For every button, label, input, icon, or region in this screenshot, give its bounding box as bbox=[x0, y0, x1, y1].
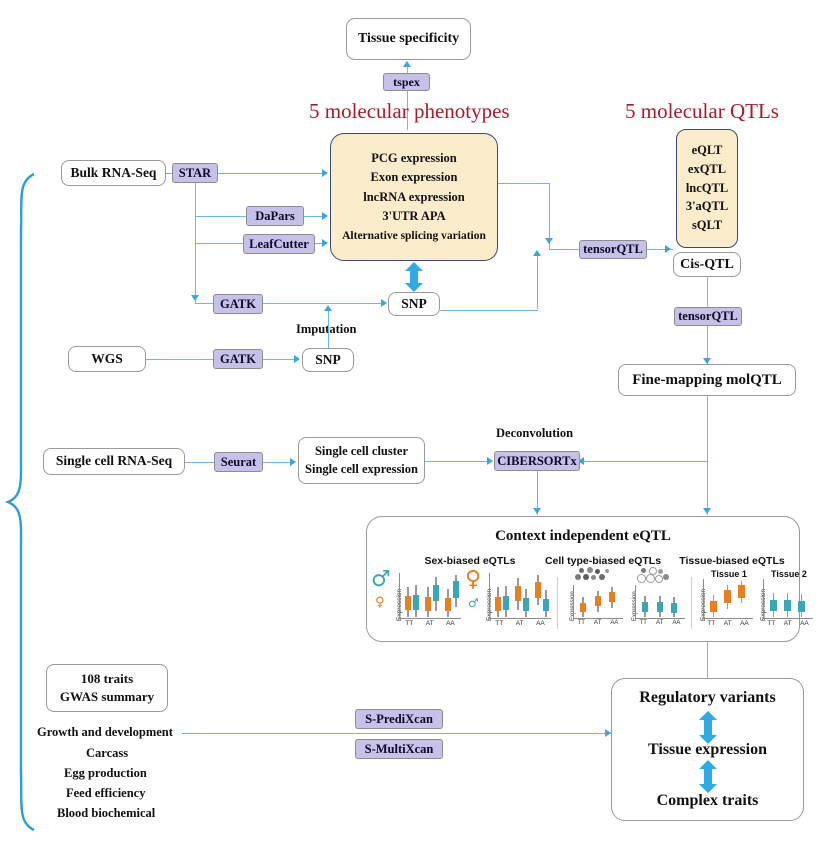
chart-tissue-2 bbox=[763, 579, 813, 619]
tool-tspex-label: tspex bbox=[393, 75, 420, 90]
line-snp-up-junction bbox=[537, 252, 538, 309]
single-cell-cluster-box[interactable]: Single cell cluster Single cell expressi… bbox=[298, 437, 425, 484]
tool-seurat-label: Seurat bbox=[221, 455, 256, 470]
tool-gatk-wgs[interactable]: GATK bbox=[213, 349, 263, 369]
phenotypes-section-title: 5 molecular phenotypes bbox=[309, 99, 510, 124]
trait-egg-text: Egg production bbox=[64, 766, 147, 780]
tissue2-title: Tissue 2 bbox=[771, 569, 807, 579]
group-title-sex: Sex-biased eQTLs bbox=[405, 555, 535, 567]
phenotype-item-3: 3'UTR APA bbox=[382, 209, 445, 225]
group-title-celltype: Cell type-biased eQTLs bbox=[533, 555, 673, 567]
tool-leafcutter[interactable]: LeafCutter bbox=[243, 234, 315, 254]
arrowhead-snp-rna bbox=[381, 299, 387, 307]
group-title-celltype-text: Cell type-biased eQTLs bbox=[545, 555, 661, 567]
male-symbol-large: ♂ bbox=[371, 569, 391, 591]
tool-gatk-rna-label: GATK bbox=[220, 297, 256, 312]
trait-feed-text: Feed efficiency bbox=[66, 786, 145, 800]
tool-cibersortx[interactable]: CIBERSORTx bbox=[494, 451, 580, 471]
xticks-tissue-2: TT AT AA bbox=[763, 620, 813, 627]
outcome-complex-traits: Complex traits bbox=[657, 791, 759, 811]
tool-gatk-rna[interactable]: GATK bbox=[213, 294, 263, 314]
qtl-item-1: exQTL bbox=[688, 162, 726, 178]
outcomes-box[interactable]: Regulatory variants Tissue expression Co… bbox=[611, 678, 804, 821]
xticks-sex-male: TT AT AA bbox=[399, 620, 461, 627]
group-title-sex-text: Sex-biased eQTLs bbox=[424, 555, 515, 567]
line-scbox-to-cibersortx bbox=[425, 461, 490, 462]
arrowhead-cibersortx bbox=[487, 457, 493, 465]
molecular-qtls-box[interactable]: eQLT exQTL lncQTL 3'aQTL sQLT bbox=[676, 129, 738, 248]
chart-sex-female bbox=[489, 573, 551, 619]
xtick-at: AT bbox=[724, 620, 732, 627]
phenotypes-title-text: 5 molecular phenotypes bbox=[309, 99, 510, 123]
tissue1-title: Tissue 1 bbox=[711, 569, 747, 579]
tool-tensorqtl-finemap-label: tensorQTL bbox=[678, 309, 738, 324]
snp-wgs-node[interactable]: SNP bbox=[302, 348, 354, 372]
tool-s-multixcan[interactable]: S-MultiXcan bbox=[355, 739, 443, 759]
imputation-label: Imputation bbox=[296, 322, 356, 337]
line-star-to-dapars bbox=[195, 216, 246, 217]
chart-sex-male bbox=[399, 573, 461, 619]
xtick-aa: AA bbox=[740, 620, 749, 627]
sc-box-line1: Single cell cluster bbox=[315, 444, 408, 460]
tissue2-title-text: Tissue 2 bbox=[771, 569, 807, 579]
line-finemap-to-cibersortx bbox=[582, 461, 708, 462]
line-finemap-down2 bbox=[707, 461, 708, 515]
fine-mapping-label: Fine-mapping molQTL bbox=[632, 371, 782, 390]
xticks-celltype-a: TT AT AA bbox=[573, 620, 623, 626]
phenotype-item-1: Exon expression bbox=[371, 170, 458, 186]
trait-carcass-text: Carcass bbox=[86, 746, 128, 760]
line-wgs-to-gatk bbox=[146, 359, 213, 360]
xtick-tt: TT bbox=[578, 620, 585, 626]
molecular-phenotypes-box[interactable]: PCG expression Exon expression lncRNA ex… bbox=[330, 133, 498, 261]
tool-tensorqtl-cis[interactable]: tensorQTL bbox=[579, 240, 647, 259]
xtick-at: AT bbox=[784, 620, 792, 627]
qtls-title-text: 5 molecular QTLs bbox=[625, 99, 779, 123]
imputation-text: Imputation bbox=[296, 322, 356, 336]
trait-blood-text: Blood biochemical bbox=[57, 806, 155, 820]
line-star-to-leafcutter bbox=[195, 243, 243, 244]
group-title-tissue-text: Tissue-biased eQTLs bbox=[679, 555, 784, 567]
trait-growth: Growth and development bbox=[37, 725, 173, 740]
wgs-node[interactable]: WGS bbox=[68, 346, 146, 372]
female-symbol-large: ♀ bbox=[465, 569, 481, 591]
xtick-tt: TT bbox=[495, 620, 503, 627]
line-pheno-right bbox=[498, 183, 550, 184]
line-gwas-to-outcomes bbox=[182, 733, 611, 734]
tissue-specificity-node[interactable]: Tissue specificity bbox=[346, 18, 471, 60]
line-seurat-to-scbox bbox=[263, 462, 293, 463]
tool-cibersortx-label: CIBERSORTx bbox=[497, 454, 576, 469]
xtick-tt: TT bbox=[767, 620, 775, 627]
tool-star[interactable]: STAR bbox=[172, 163, 218, 183]
tissue1-title-text: Tissue 1 bbox=[711, 569, 747, 579]
qtl-item-3: 3'aQTL bbox=[686, 199, 728, 215]
arrowhead-star-spine bbox=[191, 295, 199, 301]
phenotype-item-4: Alternative splicing variation bbox=[342, 229, 486, 243]
xtick-tt: TT bbox=[405, 620, 413, 627]
tool-star-label: STAR bbox=[179, 166, 211, 181]
xtick-at: AT bbox=[516, 620, 524, 627]
xtick-tt: TT bbox=[640, 620, 647, 626]
trait-carcass: Carcass bbox=[86, 746, 128, 761]
xtick-aa: AA bbox=[610, 620, 618, 626]
cis-qtl-node[interactable]: Cis-QTL bbox=[673, 252, 741, 277]
tissue-specificity-label: Tissue specificity bbox=[358, 30, 459, 48]
xtick-aa: AA bbox=[672, 620, 680, 626]
female-symbol-small: ♀ bbox=[375, 596, 385, 609]
qtls-section-title: 5 molecular QTLs bbox=[625, 99, 779, 124]
arrowhead-snp-wgs bbox=[294, 355, 300, 363]
arrowhead-tissuespec bbox=[403, 61, 411, 67]
xtick-aa: AA bbox=[446, 620, 455, 627]
arrowhead-pheno-3 bbox=[322, 239, 328, 247]
tool-seurat[interactable]: Seurat bbox=[214, 452, 263, 472]
bulk-rnaseq-node[interactable]: Bulk RNA-Seq bbox=[61, 160, 166, 186]
xtick-at: AT bbox=[594, 620, 601, 626]
cis-qtl-label: Cis-QTL bbox=[680, 256, 734, 274]
gwas-summary-box[interactable]: 108 traits GWAS summary bbox=[46, 664, 168, 712]
xticks-tissue-1: TT AT AA bbox=[703, 620, 753, 627]
single-cell-rnaseq-node[interactable]: Single cell RNA-Seq bbox=[43, 448, 185, 475]
gwas-box-line2: GWAS summary bbox=[60, 689, 154, 705]
arrowhead-pheno-2 bbox=[322, 212, 328, 220]
male-symbol-small-glyph: ♂ bbox=[468, 596, 479, 610]
tool-leafcutter-label: LeafCutter bbox=[249, 237, 309, 252]
tool-s-multixcan-label: S-MultiXcan bbox=[365, 742, 434, 757]
xtick-at: AT bbox=[426, 620, 434, 627]
female-symbol-small-glyph: ♀ bbox=[375, 595, 385, 610]
line-sc-to-seurat bbox=[185, 462, 214, 463]
trait-growth-text: Growth and development bbox=[37, 725, 173, 739]
context-independent-eqtl-panel[interactable]: Context independent eQTL Sex-biased eQTL… bbox=[366, 516, 800, 642]
sc-box-line2: Single cell expression bbox=[305, 462, 418, 478]
snp-wgs-label: SNP bbox=[315, 352, 341, 369]
context-panel-title: Context independent eQTL bbox=[367, 528, 799, 545]
tool-dapars-label: DaPars bbox=[255, 209, 295, 224]
arrowhead-snp-up bbox=[533, 250, 541, 256]
tool-tensorqtl-finemap[interactable]: tensorQTL bbox=[674, 307, 742, 326]
double-arrow-variants-expression bbox=[699, 711, 717, 744]
arrowhead-pheno-1 bbox=[322, 169, 328, 177]
double-arrow-pheno-snp bbox=[405, 262, 423, 292]
bulk-rnaseq-label: Bulk RNA-Seq bbox=[71, 165, 157, 182]
chart-tissue-1 bbox=[703, 579, 753, 619]
tool-s-predixcan[interactable]: S-PrediXcan bbox=[355, 709, 443, 729]
diagram-canvas: Tissue specificity tspex 5 molecular phe… bbox=[0, 0, 829, 842]
trait-feed: Feed efficiency bbox=[66, 786, 145, 801]
male-symbol-large-glyph: ♂ bbox=[371, 567, 391, 592]
tool-tensorqtl-cis-label: tensorQTL bbox=[583, 242, 643, 257]
line-star-to-pheno bbox=[218, 173, 326, 174]
divider-celltype-tissue bbox=[691, 577, 692, 629]
phenotype-item-2: lncRNA expression bbox=[363, 190, 465, 206]
male-symbol-small: ♂ bbox=[468, 597, 479, 609]
line-star-to-gatkrna bbox=[195, 303, 213, 304]
snp-rna-label: SNP bbox=[401, 296, 427, 313]
double-arrow-expression-traits bbox=[699, 760, 717, 793]
line-snprna-right bbox=[440, 310, 538, 311]
wgs-label: WGS bbox=[91, 351, 123, 368]
phenotype-item-0: PCG expression bbox=[371, 151, 457, 167]
qtl-item-4: sQLT bbox=[692, 218, 722, 234]
tool-s-predixcan-label: S-PrediXcan bbox=[365, 712, 433, 727]
arrowhead-cisqtl bbox=[665, 245, 671, 253]
arrowhead-scbox bbox=[290, 458, 296, 466]
arrowhead-imputation bbox=[324, 305, 332, 311]
deconvolution-label: Deconvolution bbox=[496, 426, 573, 441]
xtick-aa: AA bbox=[536, 620, 545, 627]
deconvolution-text: Deconvolution bbox=[496, 426, 573, 440]
qtl-item-0: eQLT bbox=[692, 143, 723, 159]
arrowhead-ctx-left bbox=[533, 508, 541, 514]
snp-rna-node[interactable]: SNP bbox=[388, 292, 440, 316]
xticks-celltype-b: TT AT AA bbox=[635, 620, 685, 626]
female-symbol-large-glyph: ♀ bbox=[465, 567, 481, 592]
trait-blood: Blood biochemical bbox=[57, 806, 155, 821]
line-finemap-down bbox=[707, 396, 708, 461]
xticks-sex-female: TT AT AA bbox=[489, 620, 551, 627]
arrowhead-ctx-right bbox=[703, 508, 711, 514]
context-panel-title-text: Context independent eQTL bbox=[495, 528, 671, 544]
qtl-item-2: lncQTL bbox=[686, 181, 728, 197]
trait-egg: Egg production bbox=[64, 766, 147, 781]
fine-mapping-molqtl-node[interactable]: Fine-mapping molQTL bbox=[618, 364, 796, 396]
line-to-tensorqtl bbox=[549, 249, 581, 250]
tool-dapars[interactable]: DaPars bbox=[246, 206, 304, 226]
xtick-tt: TT bbox=[707, 620, 715, 627]
tool-gatk-wgs-label: GATK bbox=[220, 352, 256, 367]
arrowhead-pheno-down bbox=[545, 238, 553, 244]
cell-cluster-filled-icon bbox=[573, 567, 613, 583]
left-curly-brace bbox=[4, 172, 38, 832]
chart-celltype-a bbox=[573, 585, 623, 619]
divider-sex-celltype bbox=[557, 577, 558, 629]
line-imputation bbox=[328, 308, 329, 350]
cell-cluster-hollow-icon bbox=[635, 567, 675, 583]
group-title-tissue: Tissue-biased eQTLs bbox=[672, 555, 792, 567]
xtick-at: AT bbox=[656, 620, 663, 626]
line-gatkwgs-to-snp bbox=[263, 359, 298, 360]
tool-tspex[interactable]: tspex bbox=[383, 73, 430, 91]
gwas-box-line1: 108 traits bbox=[81, 671, 133, 687]
outcome-regulatory-variants: Regulatory variants bbox=[639, 688, 775, 708]
chart-celltype-b bbox=[635, 585, 685, 619]
single-cell-rnaseq-label: Single cell RNA-Seq bbox=[56, 453, 172, 470]
xtick-aa: AA bbox=[800, 620, 809, 627]
